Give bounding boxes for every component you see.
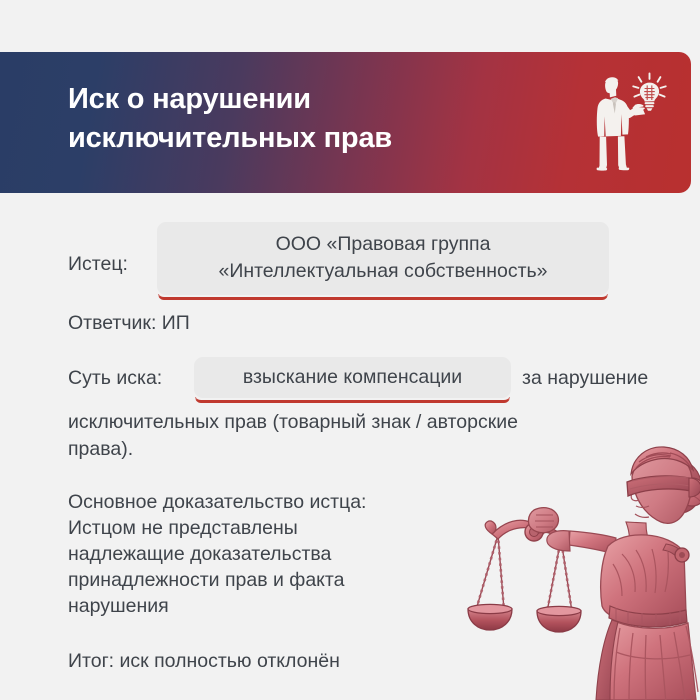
header-banner: Иск о нарушении исключительных прав — [0, 52, 691, 193]
verdict-text: Итог: иск полностью отклонён — [68, 648, 340, 674]
subject-rest-text: исключительных прав (товарный знак / авт… — [68, 409, 668, 463]
defendant-row: Ответчик: ИП — [68, 310, 190, 336]
evidence-block: Основное доказательство истца: Истцом не… — [68, 490, 468, 620]
infographic-card: Иск о нарушении исключительных прав — [0, 0, 700, 700]
plaintiff-value-chip: ООО «Правовая группа «Интеллектуальная с… — [157, 222, 609, 295]
content-area: Истец: ООО «Правовая группа «Интеллектуа… — [0, 193, 700, 700]
page-title: Иск о нарушении исключительных прав — [68, 80, 568, 157]
plaintiff-label: Истец: — [68, 251, 128, 277]
subject-highlight-chip: взыскание компенсации — [194, 357, 511, 398]
subject-tail-text: за нарушение — [522, 365, 648, 391]
businessman-with-lightbulb-icon — [591, 64, 669, 184]
subject-label: Суть иска: — [68, 365, 162, 391]
